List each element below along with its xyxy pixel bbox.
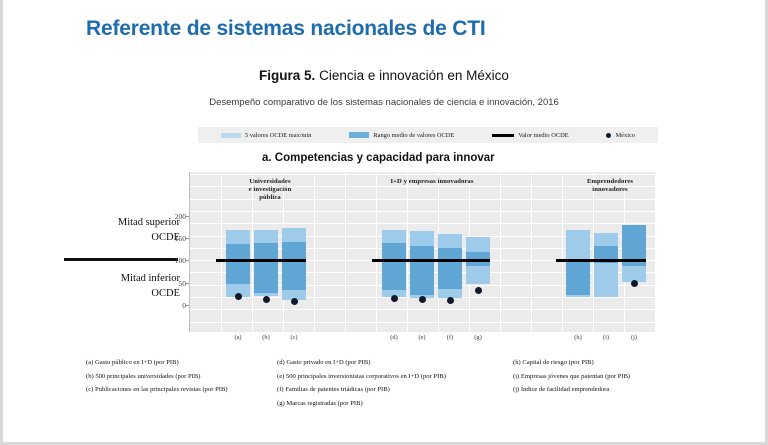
grid-line-horizontal: [190, 309, 655, 310]
mexico-value-marker: [447, 297, 454, 304]
grid-line-vertical: [345, 172, 346, 332]
legend-item-mid-range: Rango medio de valores OCDE: [349, 132, 454, 139]
mexico-value-marker: [235, 293, 242, 300]
footnote-item: (g) Marcas registradas (por PIB): [277, 397, 446, 411]
grid-line-horizontal: [190, 174, 655, 175]
x-axis-tick-label: (g): [468, 334, 488, 341]
legend-item-median: Valor medio OCDE: [492, 132, 568, 139]
legend-label: Rango medio de valores OCDE: [373, 132, 454, 139]
legend-label: 5 valores OCDE max/min: [245, 132, 312, 139]
legend-label: Valor medio OCDE: [518, 132, 568, 139]
bar-range-middle: [410, 246, 434, 295]
figure-title-text: Ciencia e innovación en México: [319, 68, 509, 83]
grid-line-vertical: [562, 172, 563, 332]
footnote-item: (e) 500 principales inversionistas corpo…: [277, 370, 446, 384]
grid-line-vertical: [531, 172, 532, 332]
group-heading-line: innovadores: [556, 186, 664, 194]
y-axis-tick-label: 100: [160, 256, 186, 265]
oecd-median-line: [556, 259, 646, 262]
footnote-item: (d) Gasto privado en I+D (por PIB): [277, 356, 446, 370]
figure-label: Figura 5.: [259, 68, 315, 83]
black-line-swatch-icon: [492, 134, 514, 137]
group-heading: Emprendedoresinnovadores: [556, 178, 664, 194]
grid-line-horizontal: [190, 322, 655, 323]
footnote-item: (f) Familias de patentes triádicas (por …: [277, 383, 446, 397]
mexico-value-marker: [475, 287, 482, 294]
x-axis-tick-label: (e): [412, 334, 432, 341]
footnote-item: (c) Publicaciones en las principales rev…: [86, 383, 228, 397]
light-blue-swatch-icon: [221, 133, 241, 138]
oecd-median-line: [372, 259, 490, 262]
legend-item-max-min: 5 valores OCDE max/min: [221, 132, 312, 139]
y-axis-labels: 050100150200: [160, 209, 186, 313]
y-axis-tick-label: 0: [160, 301, 186, 310]
y-axis-tick: [186, 283, 189, 284]
y-axis-tick-label: 200: [160, 212, 186, 221]
page-title: Referente de sistemas nacionales de CTI: [86, 17, 486, 41]
x-axis-tick-label: (f): [440, 334, 460, 341]
bar-range-middle: [438, 248, 462, 289]
y-axis-tick: [186, 260, 189, 261]
footnote-column-3: (h) Capital de riesgo (por PIB)(i) Empre…: [513, 356, 630, 397]
bar-range-middle: [254, 243, 278, 294]
group-heading-line: I+D y empresas innovadoras: [372, 178, 492, 186]
mexico-value-marker: [263, 296, 270, 303]
x-axis-tick-label: (a): [228, 334, 248, 341]
grid-line-horizontal: [190, 223, 655, 224]
bar-range-middle: [566, 260, 590, 295]
x-axis-tick-label: (c): [284, 334, 304, 341]
group-heading-line: Universidades: [216, 178, 324, 186]
mexico-value-marker: [631, 280, 638, 287]
group-heading: I+D y empresas innovadoras: [372, 178, 492, 186]
x-axis-tick-label: (d): [384, 334, 404, 341]
grid-line-vertical: [500, 172, 501, 332]
bar-range-maxmin: [594, 233, 618, 297]
grid-line-vertical: [376, 172, 377, 332]
oecd-median-line: [216, 259, 306, 262]
group-heading-line: Emprendedores: [556, 178, 664, 186]
footnote-item: (i) Empresas jóvenes que patentan (por P…: [513, 370, 630, 384]
bar-range-middle: [282, 242, 306, 290]
figure-title: Figura 5. Ciencia e innovación en México: [0, 68, 768, 83]
group-heading-line: pública: [216, 194, 324, 202]
bar-range-middle: [382, 243, 406, 290]
mid-blue-swatch-icon: [349, 132, 369, 138]
footnote-item: (a) Gasto público en I+D (por PIB): [86, 356, 228, 370]
x-axis-tick-label: (h): [568, 334, 588, 341]
footnote-item: (j) Índice de facilidad emprendedora: [513, 383, 630, 397]
y-axis-tick-label: 150: [160, 234, 186, 243]
footnote-column-2: (d) Gasto privado en I+D (por PIB)(e) 50…: [277, 356, 446, 410]
footnote-column-1: (a) Gasto público en I+D (por PIB)(b) 50…: [86, 356, 228, 397]
grid-line-vertical: [407, 172, 408, 332]
mexico-value-marker: [291, 298, 298, 305]
figure-subtitle: Desempeño comparativo de los sistemas na…: [0, 97, 768, 108]
footnote-item: (b) 500 principales universidades (por P…: [86, 370, 228, 384]
mexico-value-marker: [391, 295, 398, 302]
legend-label: México: [615, 132, 635, 139]
y-axis-tick-label: 50: [160, 279, 186, 288]
bar-range-middle: [226, 244, 250, 283]
x-axis-tick-label: (b): [256, 334, 276, 341]
panel-title: a. Competencias y capacidad para innovar: [262, 152, 495, 164]
x-axis-tick-label: (j): [624, 334, 644, 341]
page-border-left: [0, 0, 3, 445]
grid-line-horizontal: [190, 211, 655, 212]
y-axis-tick: [186, 305, 189, 306]
x-axis-tick-label: (i): [596, 334, 616, 341]
black-dot-marker-icon: [606, 133, 611, 138]
legend-item-mexico: México: [606, 132, 635, 139]
group-heading-line: e investigación: [216, 186, 324, 194]
chart-legend: 5 valores OCDE max/min Rango medio de va…: [198, 127, 658, 143]
y-axis-tick: [186, 238, 189, 239]
mexico-value-marker: [419, 296, 426, 303]
group-heading: Universidadese investigaciónpública: [216, 178, 324, 202]
y-axis-tick: [186, 216, 189, 217]
footnote-item: (h) Capital de riesgo (por PIB): [513, 356, 630, 370]
